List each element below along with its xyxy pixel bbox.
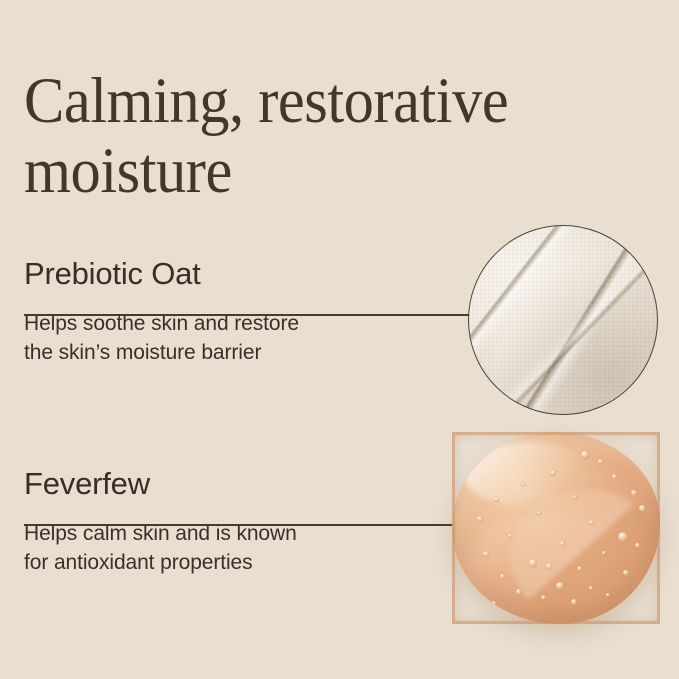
- page-title: Calming, restorative moisture: [24, 66, 601, 206]
- ingredient-block-feverfew: Feverfew Helps calm skin and is known fo…: [24, 465, 454, 577]
- ingredient-description-feverfew: Helps calm skin and is known for antioxi…: [24, 519, 454, 577]
- feverfew-gel-swatch: [452, 432, 660, 624]
- connector-rule-prebiotic-oat: [24, 314, 476, 316]
- ingredient-block-prebiotic-oat: Prebiotic Oat Helps soothe skin and rest…: [24, 255, 454, 367]
- connector-rule-feverfew: [24, 524, 454, 526]
- gel-rim: [452, 432, 660, 624]
- oat-powder-swatch: [468, 225, 658, 415]
- product-benefits-panel: Calming, restorative moisture Prebiotic …: [0, 0, 679, 679]
- ingredient-description-prebiotic-oat: Helps soothe skin and restore the skin’s…: [24, 309, 454, 367]
- oat-grain-texture: [468, 225, 658, 415]
- ingredient-name-prebiotic-oat: Prebiotic Oat: [24, 255, 454, 293]
- ingredient-name-feverfew: Feverfew: [24, 465, 454, 503]
